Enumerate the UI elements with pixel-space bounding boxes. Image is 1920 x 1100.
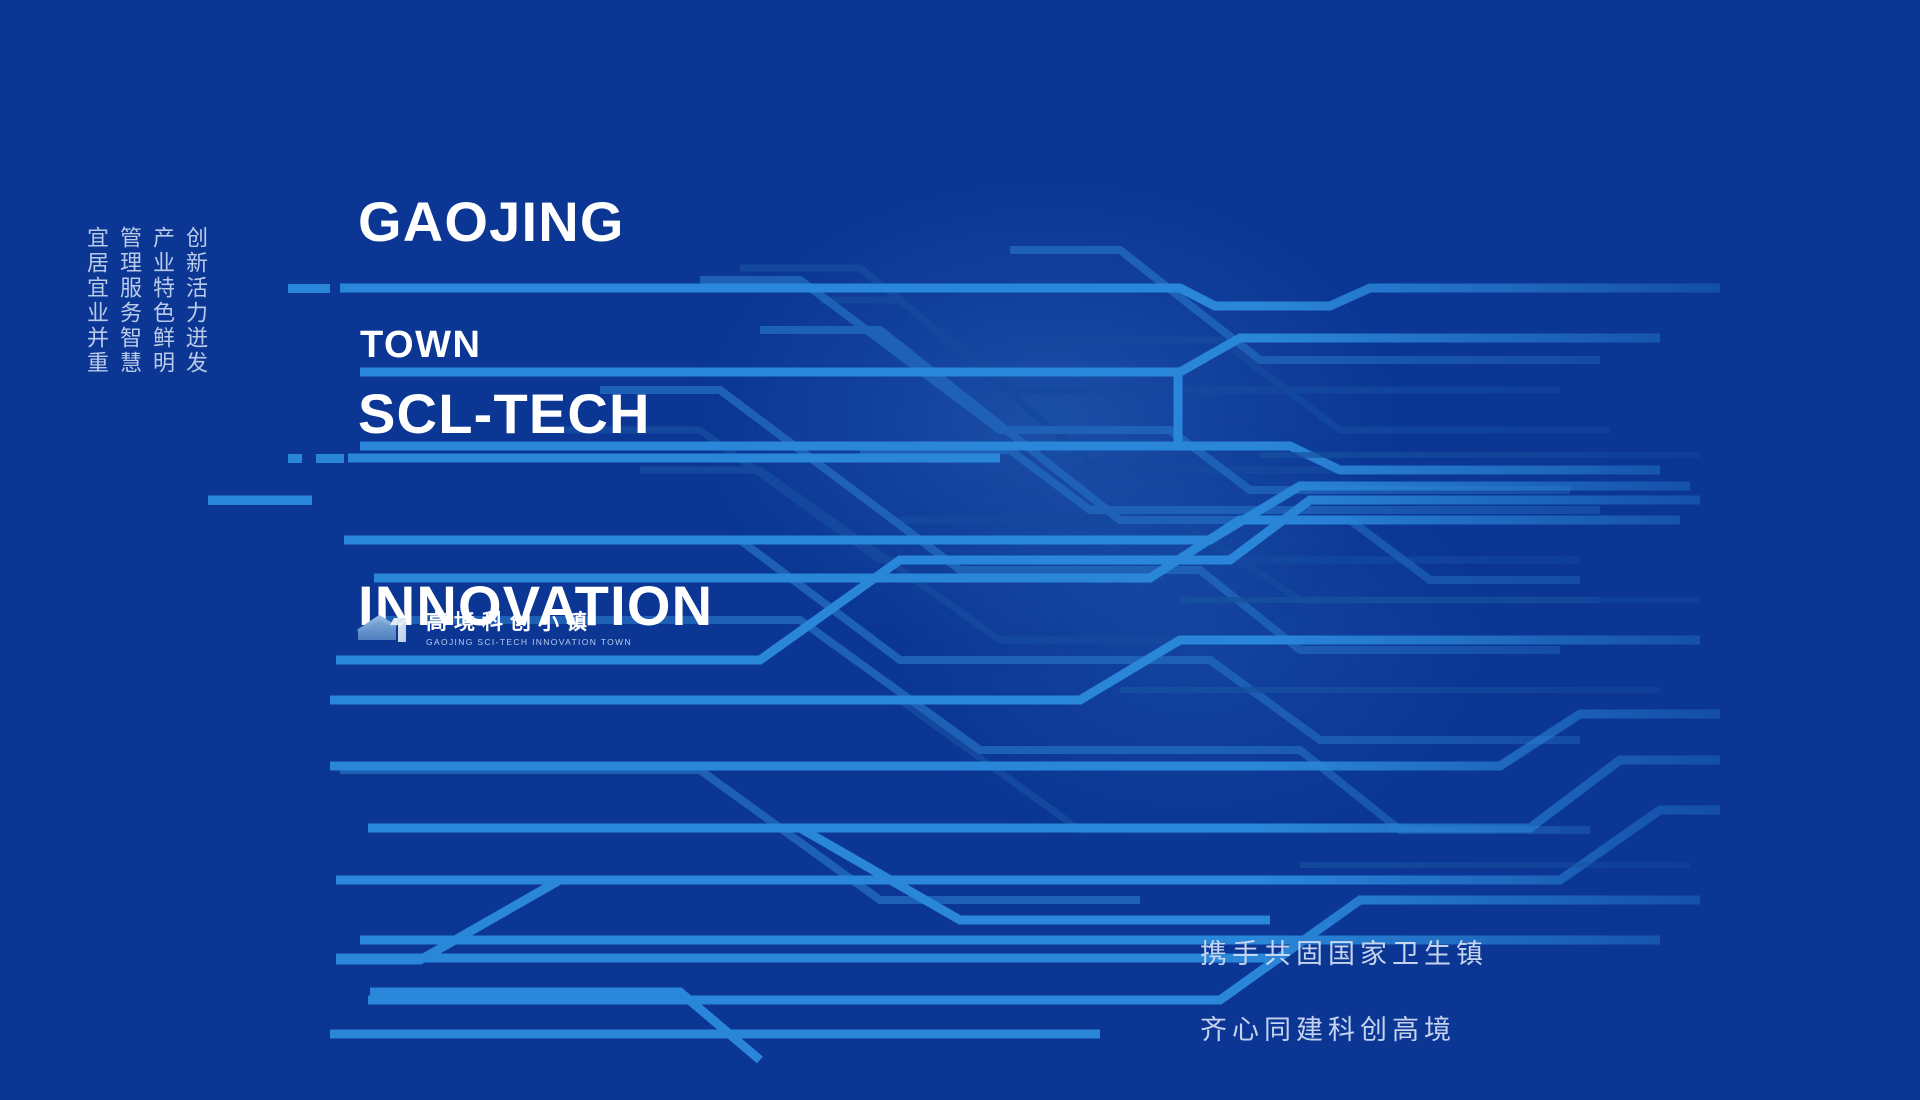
circuit-trace-artwork <box>0 0 1920 1100</box>
slogan-line-2: 齐心同建科创高境 <box>1200 1012 1488 1050</box>
trace-dash-stubs <box>208 284 344 505</box>
logo-english-name: GAOJING SCI-TECH INNOVATION TOWN <box>426 637 632 648</box>
vertical-tagline-col-2: 产业特色鲜明 <box>148 226 175 424</box>
poster-canvas: GAOJING SCL-TECH INNOVATION TOWN 创新活力迸发 … <box>0 0 1920 1100</box>
trace-glow-primary <box>700 180 1400 660</box>
headline-line-1: GAOJING <box>358 190 713 254</box>
slogan-block: 携手共固国家卫生镇 齐心同建科创高境 <box>1200 898 1488 1088</box>
slogan-line-1: 携手共固国家卫生镇 <box>1200 936 1488 974</box>
vertical-tagline-col-1: 创新活力迸发 <box>181 226 208 424</box>
vertical-tagline: 创新活力迸发 产业特色鲜明 管理服务智慧 宜居宜业并重 <box>82 226 208 424</box>
house-building-icon <box>356 608 412 650</box>
headline-line-2: SCL-TECH <box>358 382 713 446</box>
headline-subword-town: TOWN <box>360 325 481 365</box>
page-title: GAOJING SCL-TECH INNOVATION <box>358 62 713 766</box>
trace-glow-secondary <box>880 430 1500 850</box>
vertical-tagline-col-4: 宜居宜业并重 <box>82 226 109 424</box>
logo-lockup: 高境科创小镇 GAOJING SCI-TECH INNOVATION TOWN <box>356 608 632 650</box>
vertical-tagline-col-3: 管理服务智慧 <box>115 226 142 424</box>
logo-chinese-name: 高境科创小镇 <box>426 610 632 634</box>
